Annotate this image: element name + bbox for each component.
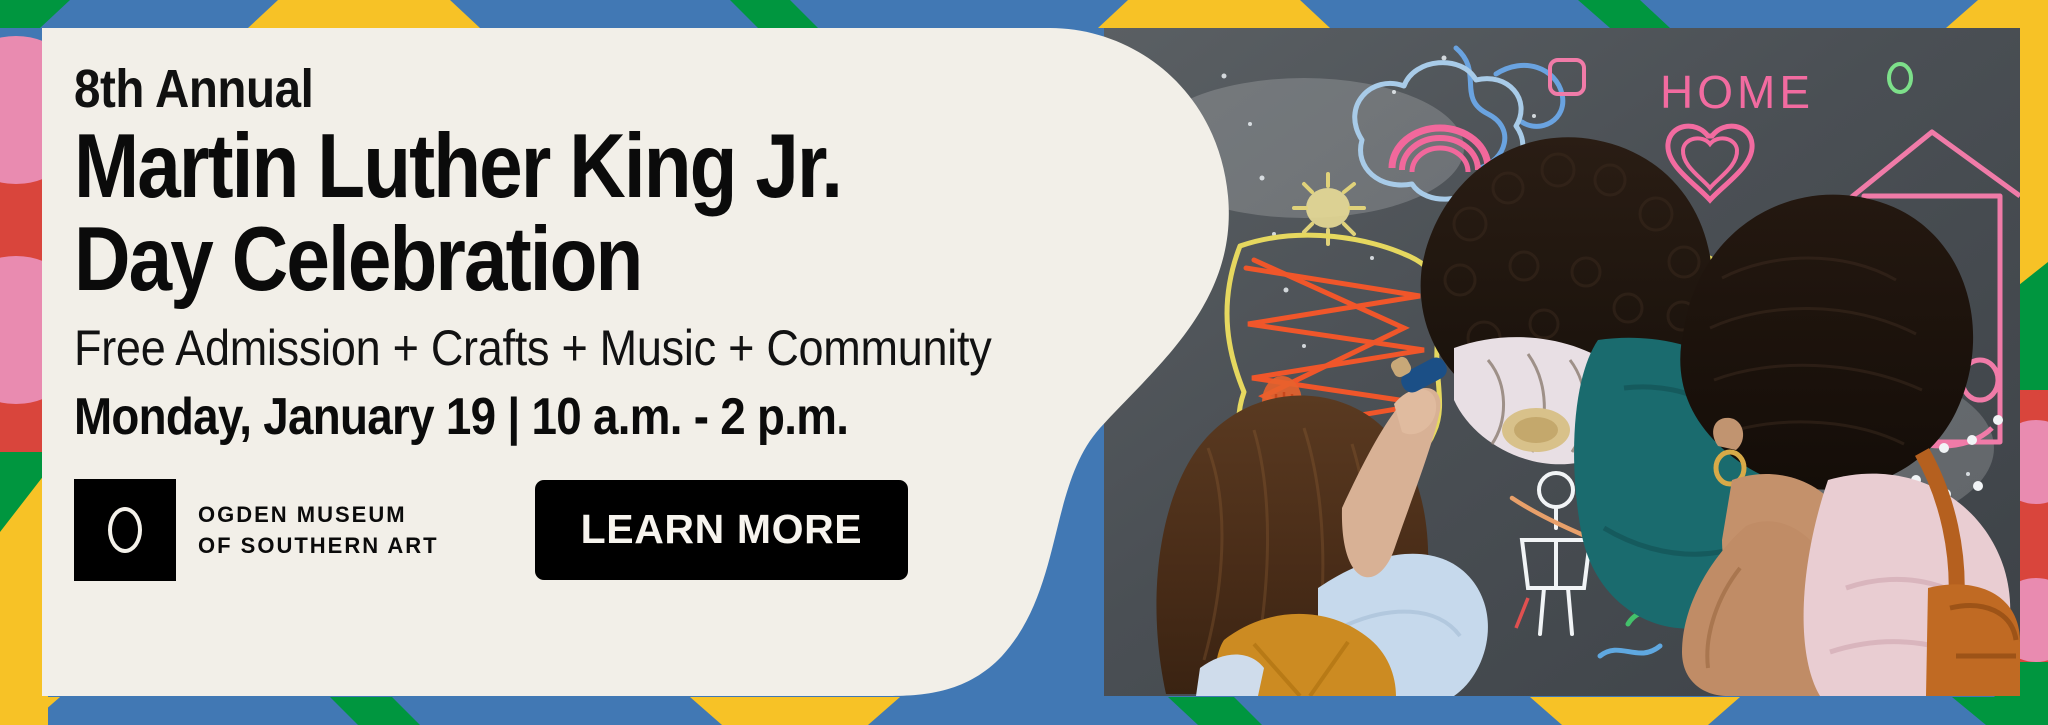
footer-row: OGDEN MUSEUM OF SOUTHERN ART LEARN MORE xyxy=(74,479,1052,581)
logo-wordmark: OGDEN MUSEUM OF SOUTHERN ART xyxy=(198,499,439,561)
logo-name-line-1: OGDEN MUSEUM xyxy=(198,499,439,530)
eyebrow-text: 8th Annual xyxy=(74,62,935,117)
ogden-museum-logo[interactable]: OGDEN MUSEUM OF SOUTHERN ART xyxy=(74,479,439,581)
chalk-home-text: HOME xyxy=(1660,66,1814,118)
learn-more-button[interactable]: LEARN MORE xyxy=(535,480,909,580)
headline-line-2: Day Celebration xyxy=(74,214,915,307)
logo-name-line-2: OF SOUTHERN ART xyxy=(198,530,439,561)
dateline-text: Monday, January 19 | 10 a.m. - 2 p.m. xyxy=(74,389,935,445)
headline-line-1: Martin Luther King Jr. xyxy=(74,121,915,214)
mlk-day-celebration-banner: HOME xyxy=(0,0,2048,725)
logo-letter-o-icon xyxy=(108,507,142,553)
subhead-text: Free Admission + Crafts + Music + Commun… xyxy=(74,321,954,375)
page-title: Martin Luther King Jr. Day Celebration xyxy=(74,121,915,307)
content-panel: 8th Annual Martin Luther King Jr. Day Ce… xyxy=(42,28,1262,696)
logo-mark-icon xyxy=(74,479,176,581)
